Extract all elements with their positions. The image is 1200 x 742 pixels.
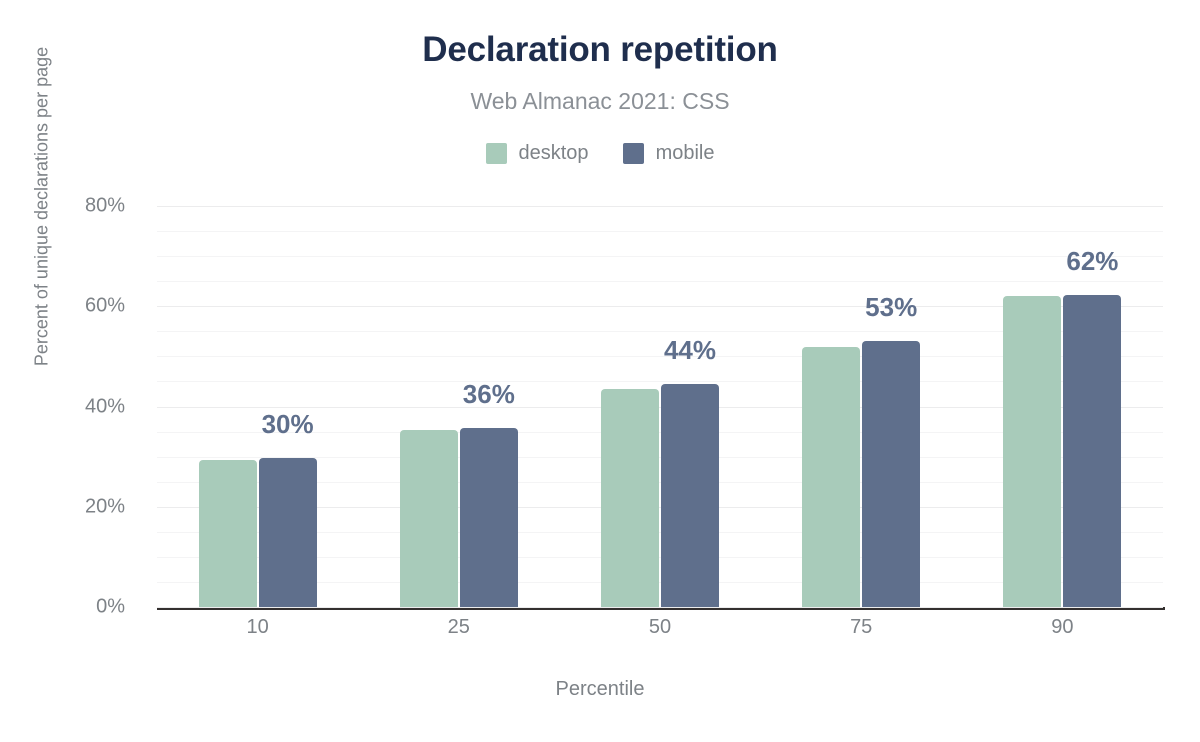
chart-legend: desktopmobile xyxy=(0,142,1200,165)
y-tick-label: 20% xyxy=(85,495,125,518)
gridline-major xyxy=(157,607,1163,608)
y-axis-tick-labels: 0%20%40%60%80% xyxy=(0,206,141,607)
y-tick-label: 60% xyxy=(85,295,125,318)
bar-desktop-50[interactable] xyxy=(601,389,659,607)
bar-group-75 xyxy=(802,206,920,607)
bar-mobile-75[interactable] xyxy=(862,341,920,607)
legend-swatch-desktop xyxy=(486,143,507,164)
x-tick-label-50: 50 xyxy=(649,616,671,639)
bar-desktop-75[interactable] xyxy=(802,347,860,607)
legend-swatch-mobile xyxy=(623,143,644,164)
x-tick-label-75: 75 xyxy=(850,616,872,639)
chart-subtitle: Web Almanac 2021: CSS xyxy=(0,88,1200,115)
legend-item-desktop[interactable]: desktop xyxy=(486,142,589,165)
x-tick-label-10: 10 xyxy=(246,616,268,639)
bar-group-50 xyxy=(601,206,719,607)
x-axis-title: Percentile xyxy=(0,678,1200,701)
bar-desktop-25[interactable] xyxy=(400,430,458,607)
legend-label-desktop: desktop xyxy=(519,142,589,165)
x-tick-label-90: 90 xyxy=(1051,616,1073,639)
y-axis-title: Percent of unique declarations per page xyxy=(32,0,53,417)
y-tick-label: 40% xyxy=(85,395,125,418)
bar-mobile-25[interactable] xyxy=(460,428,518,607)
bar-group-10 xyxy=(199,206,317,607)
chart-container: Declaration repetition Web Almanac 2021:… xyxy=(0,0,1200,742)
bar-desktop-90[interactable] xyxy=(1003,296,1061,607)
bar-value-label-75: 53% xyxy=(865,292,917,323)
bar-mobile-50[interactable] xyxy=(661,384,719,607)
bar-value-label-50: 44% xyxy=(664,335,716,366)
bar-mobile-10[interactable] xyxy=(259,458,317,607)
bar-value-label-10: 30% xyxy=(262,409,314,440)
bar-value-label-90: 62% xyxy=(1066,246,1118,277)
plot-area: 30%36%44%53%62% xyxy=(157,206,1163,607)
chart-title: Declaration repetition xyxy=(0,30,1200,70)
bar-mobile-90[interactable] xyxy=(1063,295,1121,607)
legend-label-mobile: mobile xyxy=(656,142,715,165)
y-tick-label: 80% xyxy=(85,195,125,218)
y-tick-label: 0% xyxy=(96,596,125,619)
legend-item-mobile[interactable]: mobile xyxy=(623,142,715,165)
bar-desktop-10[interactable] xyxy=(199,460,257,607)
bar-value-label-25: 36% xyxy=(463,379,515,410)
x-tick-label-25: 25 xyxy=(448,616,470,639)
